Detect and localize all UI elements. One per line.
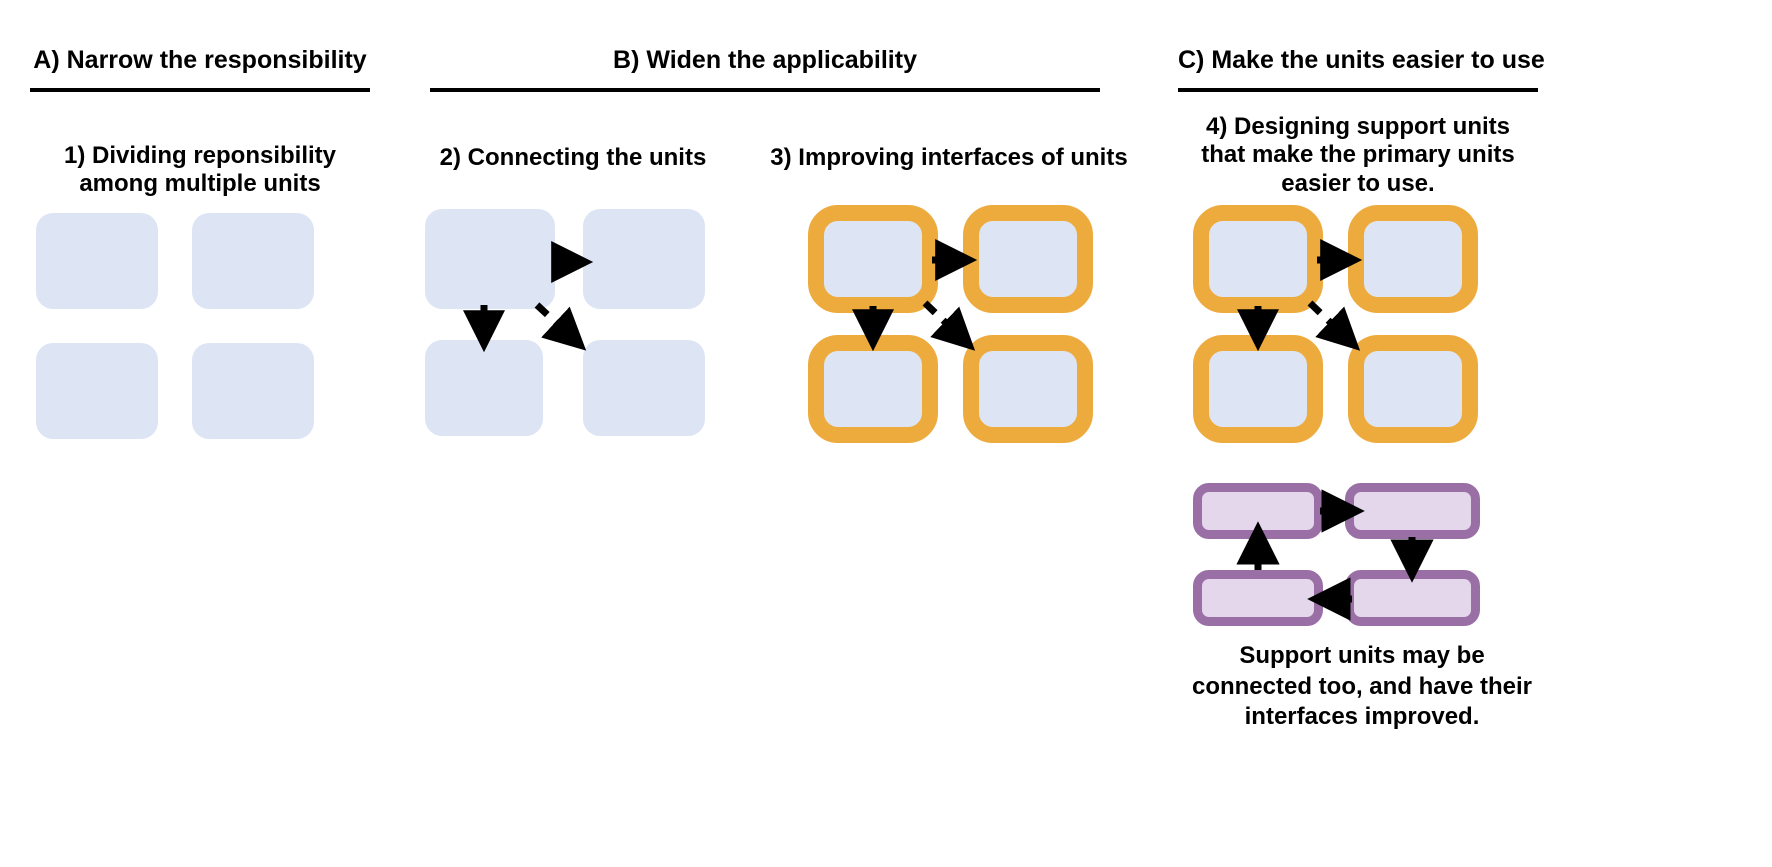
diagonal-arrow [925,303,967,343]
unit-box [425,209,555,309]
support-unit-box [1345,570,1480,626]
interface-unit-box [808,205,938,313]
unit-box [192,343,314,439]
support-unit-box [1345,483,1480,539]
interface-unit-box [1348,205,1478,313]
panel-2-title: 2) Connecting the units [408,144,738,172]
diagonal-arrow [537,305,578,343]
unit-box [583,209,705,309]
interface-unit-box [963,205,1093,313]
interface-unit-box [1193,335,1323,443]
diagonal-arrow [1310,303,1352,343]
support-unit-box [1193,570,1323,626]
unit-box [36,343,158,439]
panel-3-title: 3) Improving interfaces of units [768,144,1130,172]
panel-4-caption: Support units may be connected too, and … [1188,641,1536,733]
unit-box [192,213,314,309]
section-header-b: B) Widen the applicability [430,46,1100,75]
interface-unit-box [1348,335,1478,443]
unit-box [36,213,158,309]
section-header-c: C) Make the units easier to use [1178,46,1538,75]
interface-unit-box [1193,205,1323,313]
panel-1-title: 1) Dividing reponsibility among multiple… [28,142,372,199]
section-rule-c [1178,88,1538,92]
unit-box [583,340,705,436]
panel-4-title: 4) Designing support units that make the… [1188,113,1528,198]
interface-unit-box [808,335,938,443]
section-header-a: A) Narrow the responsibility [30,46,370,75]
support-unit-box [1193,483,1323,539]
section-rule-b [430,88,1100,92]
section-rule-a [30,88,370,92]
diagram-canvas: A) Narrow the responsibility B) Widen th… [0,0,1772,867]
unit-box [425,340,543,436]
interface-unit-box [963,335,1093,443]
